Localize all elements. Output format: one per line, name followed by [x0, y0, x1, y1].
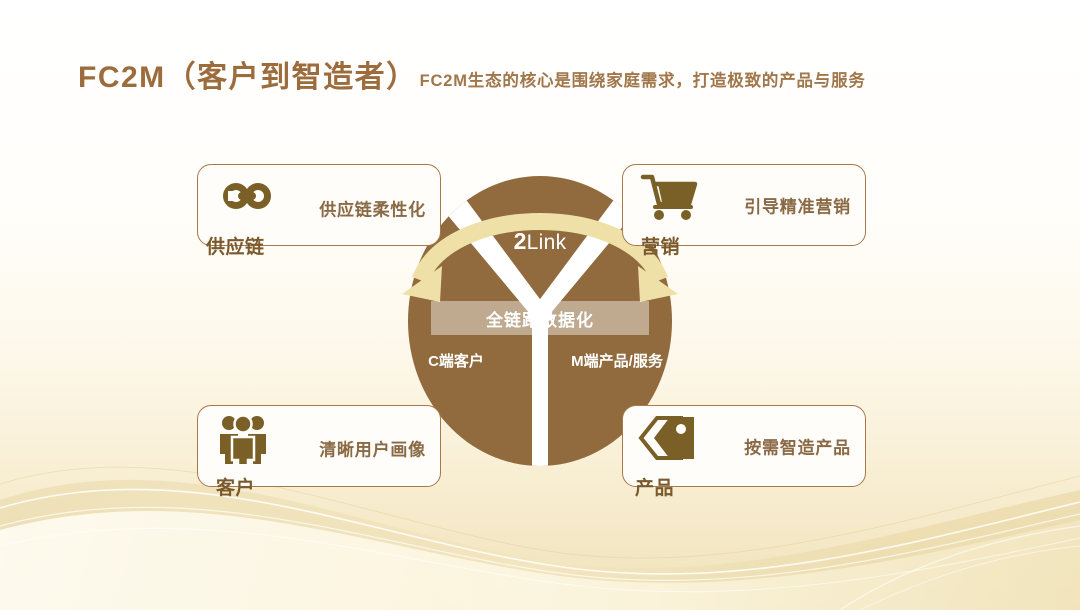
chain-link-icon — [212, 171, 278, 223]
card-customer-text: 清晰用户画像 — [319, 435, 426, 460]
card-customer-name: 客户 — [216, 473, 255, 500]
users-group-icon — [212, 412, 278, 464]
card-marketing-name: 营销 — [641, 232, 680, 259]
card-marketing[interactable]: 引导精准营销 营销 — [622, 164, 866, 246]
card-marketing-text: 引导精准营销 — [744, 193, 851, 218]
slide-canvas: FC2M（客户到智造者） FC2M生态的核心是围绕家庭需求，打造极致的产品与服务 — [0, 0, 1080, 610]
card-supply-chain-text: 供应链柔性化 — [319, 196, 426, 221]
page-subtitle: FC2M生态的核心是围绕家庭需求，打造极致的产品与服务 — [420, 67, 866, 91]
card-customer[interactable]: 清晰用户画像 客户 — [197, 405, 441, 487]
card-product-text: 按需智造产品 — [744, 434, 851, 459]
card-supply-chain[interactable]: 供应链柔性化 供应链 — [197, 164, 441, 246]
card-product-name: 产品 — [635, 473, 674, 500]
price-tag-icon — [637, 412, 703, 464]
page-title: FC2M（客户到智造者） — [78, 52, 418, 96]
card-supply-chain-name: 供应链 — [206, 232, 265, 259]
shopping-cart-icon — [637, 171, 703, 223]
page-header: FC2M（客户到智造者） FC2M生态的核心是围绕家庭需求，打造极致的产品与服务 — [78, 52, 866, 96]
card-product[interactable]: 按需智造产品 产品 — [622, 405, 866, 487]
